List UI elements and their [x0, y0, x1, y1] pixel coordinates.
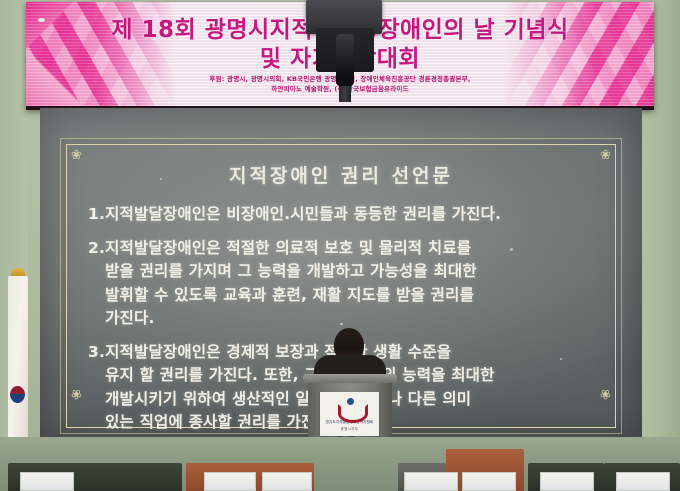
declaration-line: 발휘할 수 있도록 교육과 훈련, 재활 지도를 받을 권리를	[105, 284, 602, 308]
declaration-line: 지적발달장애인은 비장애인.시민들과 동등한 권리를 가진다.	[105, 203, 602, 227]
logo-arc-icon	[338, 404, 368, 423]
podium-organization-plate: 경기도지적발달장애인복지협회 광명시지부	[320, 392, 379, 436]
name-card	[540, 472, 594, 491]
projector-indicator-icon	[38, 18, 45, 22]
declaration-title: 지적장애인 권리 선언문	[40, 161, 642, 188]
name-card	[20, 472, 74, 491]
name-card	[462, 472, 516, 491]
declaration-item-body: 지적발달장애인은 적절한 의료적 보호 및 물리적 치료를 받을 권리를 가지며…	[105, 237, 602, 331]
event-hall-screenshot: 제 18회 광명시지적(발달)장애인의 날 기념식 및 자기주장대회 후원: 광…	[0, 0, 680, 491]
declaration-item-number: 1.	[88, 203, 105, 227]
projector-lens-icon	[336, 34, 354, 86]
declaration-item: 1. 지적발달장애인은 비장애인.시민들과 동등한 권리를 가진다.	[88, 203, 602, 227]
declaration-item-number: 2.	[88, 237, 105, 331]
chair	[86, 463, 182, 491]
declaration-item: 2. 지적발달장애인은 적절한 의료적 보호 및 물리적 치료를 받을 권리를 …	[88, 237, 602, 331]
declaration-item-body: 지적발달장애인은 비장애인.시민들과 동등한 권리를 가진다.	[105, 203, 602, 227]
name-card	[404, 472, 458, 491]
name-card	[262, 472, 312, 491]
declaration-line: 가진다.	[105, 307, 602, 331]
name-card	[616, 472, 670, 491]
ornament-corner-bottom-left-icon: ❀	[71, 387, 82, 400]
declaration-line: 지적발달장애인은 적절한 의료적 보호 및 물리적 치료를	[105, 237, 602, 261]
taeguk-blue-half-icon	[10, 394, 25, 403]
plate-branch-name: 광명시지부	[341, 426, 359, 431]
declaration-line: 받을 권리를 가지며 그 능력을 개발하고 가능성을 최대한	[105, 260, 602, 284]
organization-logo-icon	[337, 398, 363, 418]
name-card	[204, 472, 256, 491]
podium-top-surface	[303, 374, 397, 383]
declaration-item-number: 3.	[88, 341, 105, 435]
